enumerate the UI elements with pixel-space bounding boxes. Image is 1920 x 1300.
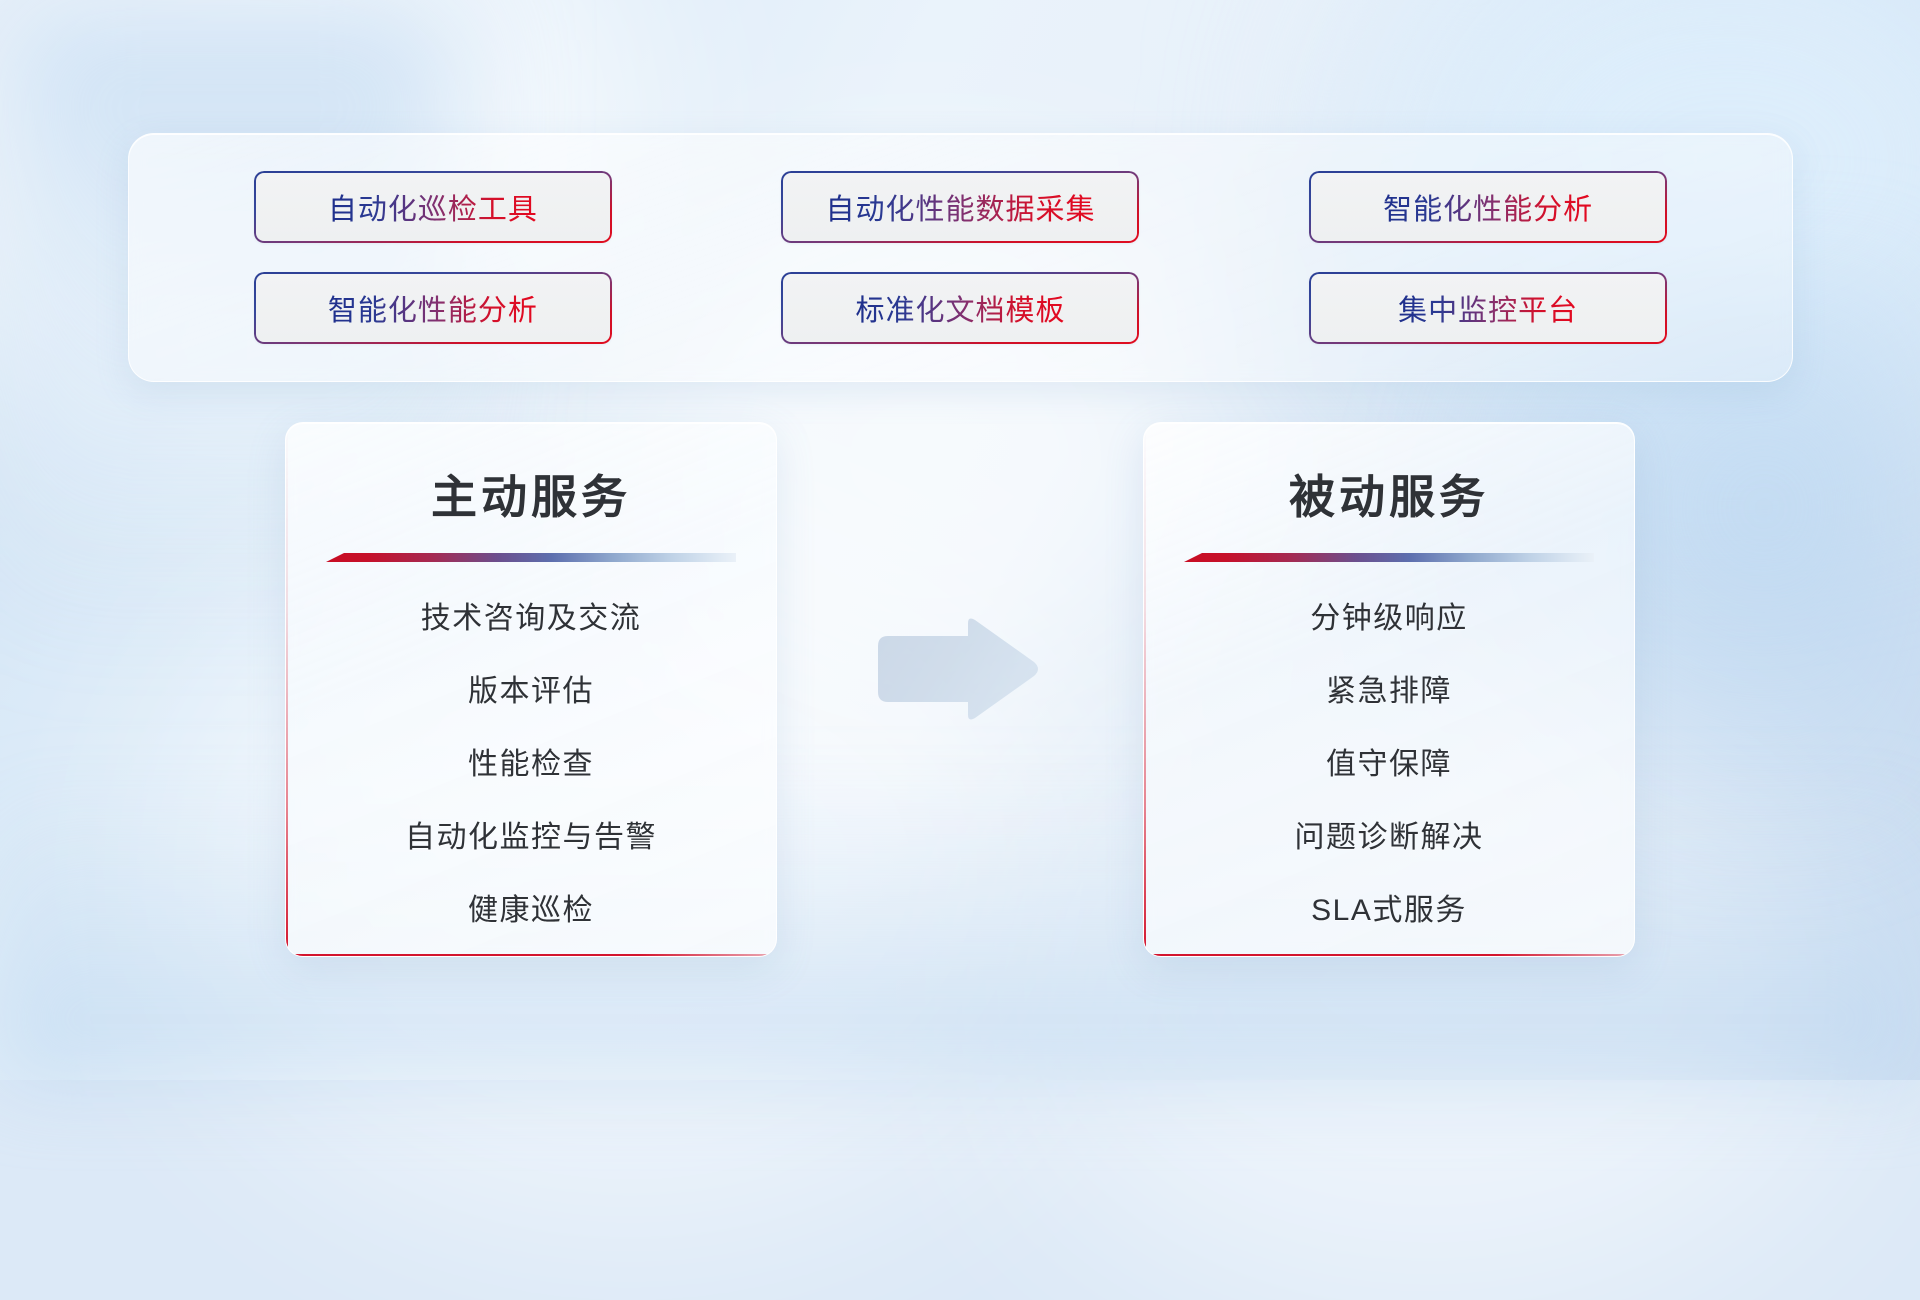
card-title-divider: [326, 553, 736, 562]
capability-tag-label: 标准化文档模板: [855, 287, 1065, 329]
card-title-divider: [1184, 553, 1594, 562]
service-list-item: 版本评估: [468, 677, 594, 707]
capability-tag-label: 自动化性能数据采集: [825, 186, 1095, 228]
service-list-item: SLA式服务: [1311, 896, 1467, 926]
card-bottom-accent-bar: [1144, 954, 1634, 956]
capability-tag[interactable]: 智能化性能分析: [254, 272, 612, 344]
service-list-item: 问题诊断解决: [1295, 823, 1484, 853]
capability-tags-panel: 自动化巡检工具 自动化性能数据采集 智能化性能分析 智能化性能分析 标准化文档模…: [128, 133, 1793, 382]
card-left-accent-bar: [286, 423, 288, 956]
service-list-item: 自动化监控与告警: [405, 823, 657, 853]
service-card-reactive: 被动服务 分钟级响应 紧急排障 值守保障 问题诊断解决 SLA式服务: [1143, 422, 1635, 957]
service-list-item: 分钟级响应: [1310, 604, 1468, 634]
service-item-list: 分钟级响应 紧急排障 值守保障 问题诊断解决 SLA式服务: [1144, 604, 1634, 926]
card-title: 被动服务: [1144, 461, 1634, 527]
capability-tag[interactable]: 自动化巡检工具: [254, 171, 612, 243]
card-title-divider-bar: [326, 553, 736, 562]
service-list-item: 技术咨询及交流: [421, 604, 642, 634]
service-item-list: 技术咨询及交流 版本评估 性能检查 自动化监控与告警 健康巡检: [286, 604, 776, 926]
capability-tag[interactable]: 自动化性能数据采集: [781, 171, 1139, 243]
service-list-item: 值守保障: [1326, 750, 1452, 780]
capability-tag-label: 智能化性能分析: [1383, 186, 1593, 228]
service-list-item: 健康巡检: [468, 896, 594, 926]
capability-tag[interactable]: 标准化文档模板: [781, 272, 1139, 344]
service-list-item: 性能检查: [468, 750, 594, 780]
capability-tag-label: 智能化性能分析: [328, 287, 538, 329]
card-title: 主动服务: [286, 461, 776, 527]
capability-tag[interactable]: 智能化性能分析: [1309, 171, 1667, 243]
capability-tag-label: 集中监控平台: [1398, 287, 1578, 329]
capability-tag[interactable]: 集中监控平台: [1309, 272, 1667, 344]
service-card-proactive: 主动服务 技术咨询及交流 版本评估 性能检查 自动化监控与告警 健康巡检: [285, 422, 777, 957]
card-title-divider-bar: [1184, 553, 1594, 562]
arrow-right-icon: [872, 614, 1042, 724]
service-list-item: 紧急排障: [1326, 677, 1452, 707]
card-left-accent-bar: [1144, 423, 1146, 956]
card-bottom-accent-bar: [286, 954, 776, 956]
capability-tag-label: 自动化巡检工具: [328, 186, 538, 228]
